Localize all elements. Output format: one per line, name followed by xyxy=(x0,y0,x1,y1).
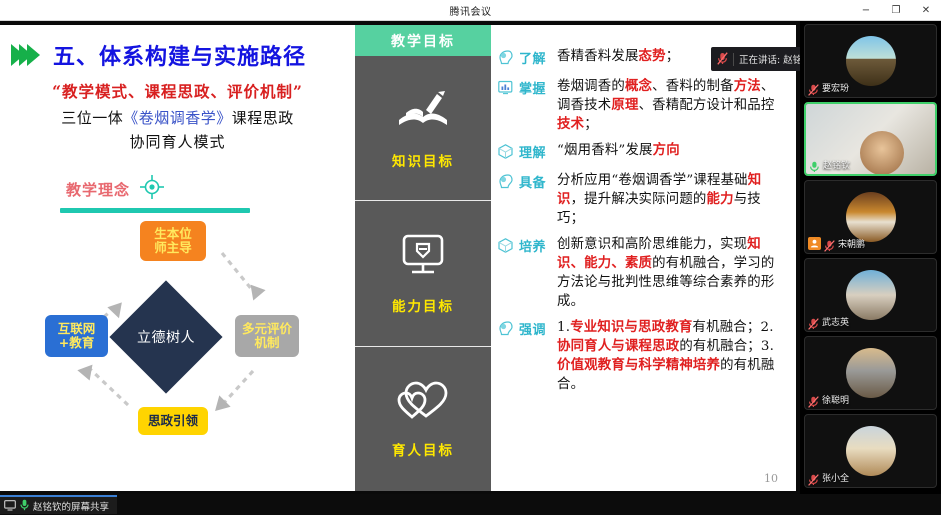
objective-row: 强调1.专业知识与思政教育有机融合；2.协同育人与课程思政的有机融合；3.价值观… xyxy=(497,318,786,394)
slide-page-number: 10 xyxy=(764,472,778,485)
diagram-center-label: 立德树人 xyxy=(126,297,206,377)
objective-cell-knowledge: 知识目标 xyxy=(355,56,491,201)
objective-keyword: 方法 xyxy=(734,78,761,94)
mic-on-icon xyxy=(809,158,820,171)
host-badge-icon xyxy=(808,237,821,250)
objective-keyword: 能力 xyxy=(707,191,734,207)
objective-cell-knowledge-label: 知识目标 xyxy=(392,150,454,170)
objective-body-text: 有机融合； xyxy=(693,320,761,335)
teaching-concept-diagram: 立德树人 生本位 师主导 互联网 +教育 多元评价 机制 思政引领 xyxy=(10,219,345,444)
objective-body-text: 、香料的制备 xyxy=(652,79,734,94)
slide-left-panel: 五、体系构建与实施路径 “教学模式、课程思政、评价机制” 三位一体《卷烟调香学》… xyxy=(0,25,355,491)
objective-cell-character: 育人目标 xyxy=(355,347,491,491)
objective-row: 具备分析应用“卷烟调香学”课程基础知识，提升解决实际问题的能力与技巧； xyxy=(497,171,786,228)
mic-muted-icon xyxy=(808,315,819,328)
objective-body-text: 创新意识和高阶思维能力，实现 xyxy=(557,237,747,252)
objective-body-text: 卷烟调香的 xyxy=(557,79,625,94)
objective-cell-ability-label: 能力目标 xyxy=(392,295,454,315)
objective-key: 具备 xyxy=(519,171,557,228)
participant-name: 赵铭钦 xyxy=(823,158,850,171)
participant-tile[interactable]: 武志英 xyxy=(804,258,937,332)
objectives-column: 教学目标 知识目标 xyxy=(355,25,491,491)
page-title: 五、体系构建与实施路径 xyxy=(53,39,306,71)
objective-key: 理解 xyxy=(519,141,557,164)
objective-body-text: 、香精配方设计和品控 xyxy=(639,98,775,113)
cube-box-icon xyxy=(497,235,519,311)
subtitle-line2-c: 课程思政 xyxy=(232,109,294,127)
objective-body-text: 1. xyxy=(557,320,570,335)
chart-board-icon xyxy=(497,77,519,134)
objective-keyword: 专业知识与思政教育 xyxy=(570,319,692,335)
participant-tile[interactable]: 徐聪明 xyxy=(804,336,937,410)
objectives-column-header: 教学目标 xyxy=(355,25,491,56)
cube-box-icon xyxy=(497,141,519,164)
title-bar: 腾讯会议 − ❐ ✕ xyxy=(0,0,941,21)
objective-row: 培养创新意识和高阶思维能力，实现知识、能力、素质的有机融合，学习的方法论与批判性… xyxy=(497,235,786,311)
shared-screen-stage[interactable]: 五、体系构建与实施路径 “教学模式、课程思政、评价机制” 三位一体《卷烟调香学》… xyxy=(0,21,800,494)
diagram-node-right-line2: 机制 xyxy=(254,336,279,350)
head-idea-icon xyxy=(497,47,519,70)
speaking-text: 正在讲话: 赵铭钦 xyxy=(739,52,800,66)
participant-filmstrip[interactable]: 要宏玢赵铭钦宋朝鹏武志英徐聪明张小全 xyxy=(800,21,941,494)
head-idea-icon xyxy=(497,318,519,394)
head-idea-icon xyxy=(497,171,519,228)
diagram-node-bottom: 思政引领 xyxy=(138,407,208,435)
avatar xyxy=(846,348,896,398)
diagram-node-top-line2: 师主导 xyxy=(154,241,192,255)
target-icon xyxy=(139,174,165,204)
window-controls: − ❐ ✕ xyxy=(851,0,941,21)
chevron-group-icon xyxy=(16,44,40,66)
diagram-node-top: 生本位 师主导 xyxy=(140,221,206,261)
objective-cell-character-label: 育人目标 xyxy=(392,439,454,459)
objective-text: 1.专业知识与思政教育有机融合；2.协同育人与课程思政的有机融合；3.价值观教育… xyxy=(557,318,786,394)
maximize-button[interactable]: ❐ xyxy=(881,0,911,21)
slide-subtitle: “教学模式、课程思政、评价机制” 三位一体《卷烟调香学》课程思政 协同育人模式 xyxy=(10,80,345,152)
objective-text: 分析应用“卷烟调香学”课程基础知识，提升解决实际问题的能力与技巧； xyxy=(557,171,786,228)
mic-muted-icon xyxy=(808,81,819,94)
monitor-icon xyxy=(4,496,16,515)
objective-keyword: 方向 xyxy=(653,142,680,158)
objective-body-text: “烟用香料”发展 xyxy=(557,143,653,158)
participant-tile[interactable]: 张小全 xyxy=(804,414,937,488)
participant-name: 要宏玢 xyxy=(822,81,849,94)
minimize-button[interactable]: − xyxy=(851,0,881,21)
mic-muted-icon xyxy=(717,50,728,69)
window-title: 腾讯会议 xyxy=(450,3,492,18)
objective-keyword: 价值观教育与科学精神培养 xyxy=(557,357,720,373)
diagram-node-left-line1: 互联网 xyxy=(58,322,96,336)
objective-text: “烟用香料”发展方向 xyxy=(557,141,786,164)
concept-label: 教学理念 xyxy=(66,179,130,200)
concept-header: 教学理念 xyxy=(66,174,345,204)
tencent-meeting-window: 腾讯会议 − ❐ ✕ 五、体系构建与实施路径 “教学模式、课程思政、评价机制” xyxy=(0,0,941,515)
objective-keyword: 协同育人与课程思政 xyxy=(557,338,679,354)
participant-name: 徐聪明 xyxy=(822,393,849,406)
objective-body-text: 的有机融合； xyxy=(679,339,761,354)
objective-key: 掌握 xyxy=(519,77,557,134)
objective-body-text: 2. xyxy=(760,320,773,335)
subtitle-quoted: “教学模式、课程思政、评价机制” xyxy=(10,80,345,102)
avatar xyxy=(846,426,896,476)
objective-body-text: ； xyxy=(666,49,680,64)
mic-muted-icon xyxy=(808,471,819,484)
double-heart-icon xyxy=(396,379,450,425)
taskbar-label: 赵铭钦的屏幕共享 xyxy=(33,499,109,513)
mic-muted-icon xyxy=(808,393,819,406)
diagram-node-left: 互联网 +教育 xyxy=(45,315,108,357)
avatar xyxy=(846,192,896,242)
taskbar-screenshare-item[interactable]: 赵铭钦的屏幕共享 xyxy=(0,495,117,514)
objective-body-text: 香精香料发展 xyxy=(557,49,639,64)
subtitle-line-2: 三位一体《卷烟调香学》课程思政 xyxy=(10,107,345,128)
objective-body-text: ，提升解决实际问题的 xyxy=(571,192,707,207)
participant-footer: 宋朝鹏 xyxy=(808,237,865,250)
subtitle-line2-b: 《卷烟调香学》 xyxy=(123,109,232,127)
diagram-node-left-line2: +教育 xyxy=(59,336,94,350)
objective-text: 卷烟调香的概念、香料的制备方法、调香技术原理、香精配方设计和品控技术； xyxy=(557,77,786,134)
participant-footer: 武志英 xyxy=(808,315,849,328)
objectives-list: 了解香精香料发展态势；掌握卷烟调香的概念、香料的制备方法、调香技术原理、香精配方… xyxy=(497,47,786,394)
slide-right-panel: 了解香精香料发展态势；掌握卷烟调香的概念、香料的制备方法、调香技术原理、香精配方… xyxy=(491,25,796,491)
objective-row: 理解“烟用香料”发展方向 xyxy=(497,141,786,164)
close-button[interactable]: ✕ xyxy=(911,0,941,21)
objective-body-text: 3. xyxy=(761,339,774,354)
subtitle-line2-a: 三位一体 xyxy=(61,109,123,127)
objective-row: 掌握卷烟调香的概念、香料的制备方法、调香技术原理、香精配方设计和品控技术； xyxy=(497,77,786,134)
objective-key: 了解 xyxy=(519,47,557,70)
participant-tile[interactable]: 要宏玢 xyxy=(804,24,937,98)
diagram-node-top-line1: 生本位 xyxy=(154,227,192,241)
taskbar: 赵铭钦的屏幕共享 xyxy=(0,494,941,515)
objective-body-text: ； xyxy=(584,117,598,132)
speaking-indicator: 正在讲话: 赵铭钦 xyxy=(711,47,800,71)
presentation-slide: 五、体系构建与实施路径 “教学模式、课程思政、评价机制” 三位一体《卷烟调香学》… xyxy=(0,25,796,491)
objective-keyword: 原理 xyxy=(611,97,638,113)
participant-footer: 徐聪明 xyxy=(808,393,849,406)
objective-key: 强调 xyxy=(519,318,557,394)
participant-name: 武志英 xyxy=(822,315,849,328)
objective-cell-ability: 能力目标 xyxy=(355,201,491,346)
objective-body-text: 分析应用“卷烟调香学”课程基础 xyxy=(557,173,748,188)
objective-keyword: 态势 xyxy=(639,48,666,64)
diagram-node-right-line1: 多元评价 xyxy=(242,322,292,336)
avatar xyxy=(846,270,896,320)
objective-key: 培养 xyxy=(519,235,557,311)
participant-tile[interactable]: 赵铭钦 xyxy=(804,102,937,176)
toast-divider xyxy=(733,53,734,66)
objective-keyword: 概念 xyxy=(625,78,652,94)
slide-title-row: 五、体系构建与实施路径 xyxy=(10,39,345,71)
monitor-shield-icon xyxy=(398,231,448,281)
open-book-pencil-icon xyxy=(395,86,451,136)
concept-underline xyxy=(60,208,250,213)
diagram-node-right: 多元评价 机制 xyxy=(235,315,299,357)
objective-keyword: 技术 xyxy=(557,116,584,132)
objective-text: 创新意识和高阶思维能力，实现知识、能力、素质的有机融合，学习的方法论与批判性思维… xyxy=(557,235,786,311)
participant-footer: 要宏玢 xyxy=(808,81,849,94)
mic-on-icon xyxy=(20,496,29,515)
participant-name: 宋朝鹏 xyxy=(838,237,865,250)
participant-name: 张小全 xyxy=(822,471,849,484)
subtitle-line-3: 协同育人模式 xyxy=(10,131,345,152)
mic-muted-icon xyxy=(824,237,835,250)
participant-footer: 赵铭钦 xyxy=(809,158,850,171)
avatar xyxy=(846,36,896,86)
participant-tile[interactable]: 宋朝鹏 xyxy=(804,180,937,254)
participant-footer: 张小全 xyxy=(808,471,849,484)
